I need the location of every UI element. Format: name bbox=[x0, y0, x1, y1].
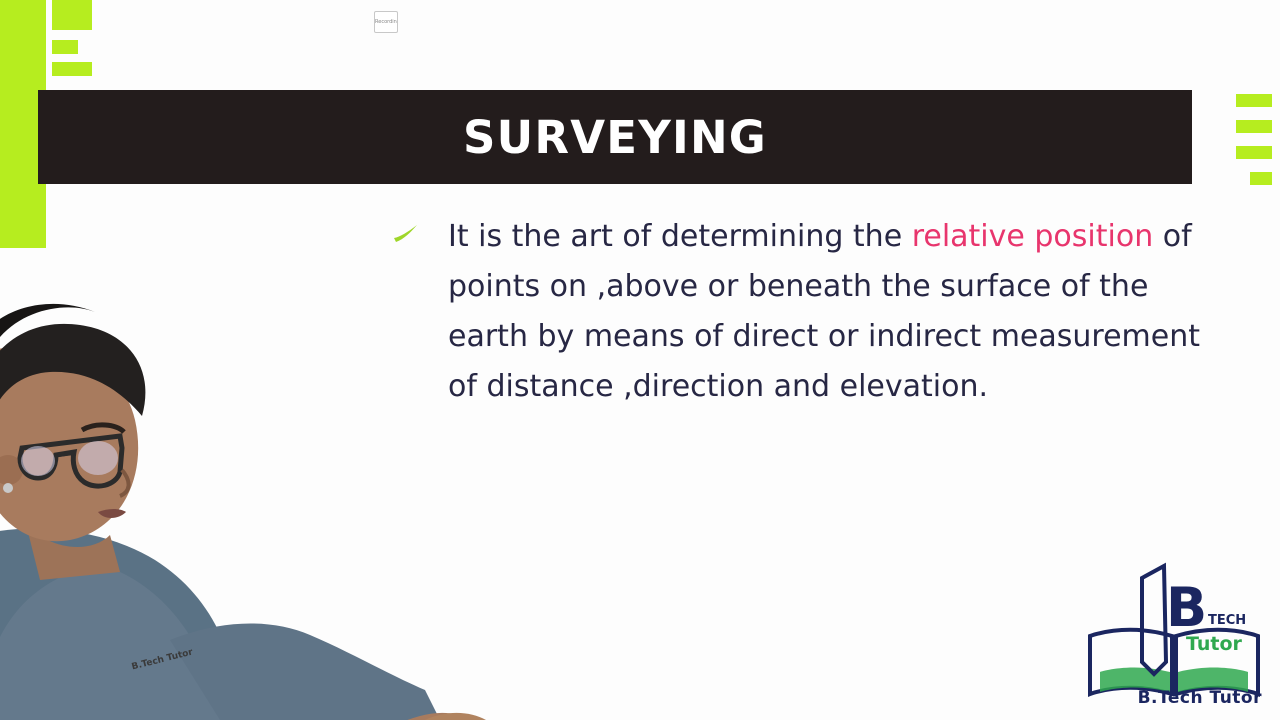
bullet-segment-highlight: relative position bbox=[912, 219, 1154, 254]
brand-caption: B.Tech Tutor bbox=[1138, 688, 1262, 708]
svg-text:B: B bbox=[1166, 576, 1207, 639]
bullet-block: It is the art of determining the relativ… bbox=[392, 212, 1212, 412]
slide-title-banner: SURVEYING bbox=[38, 90, 1192, 184]
video-frame: Recording SURVEYING It is the art of det… bbox=[0, 0, 1280, 720]
decoration-right-green-dashes bbox=[1234, 88, 1280, 188]
logo-tech-label: TECH bbox=[1208, 613, 1246, 628]
bullet-segment-1: It is the art of determining the bbox=[448, 219, 912, 254]
top-small-widget-label: Recording bbox=[375, 19, 398, 25]
top-small-widget[interactable]: Recording bbox=[374, 11, 398, 33]
page-title: SURVEYING bbox=[463, 111, 767, 164]
logo-tutor-label: Tutor bbox=[1186, 633, 1243, 655]
bullet-paragraph: It is the art of determining the relativ… bbox=[448, 212, 1212, 412]
arrow-bullet-icon bbox=[392, 224, 420, 244]
